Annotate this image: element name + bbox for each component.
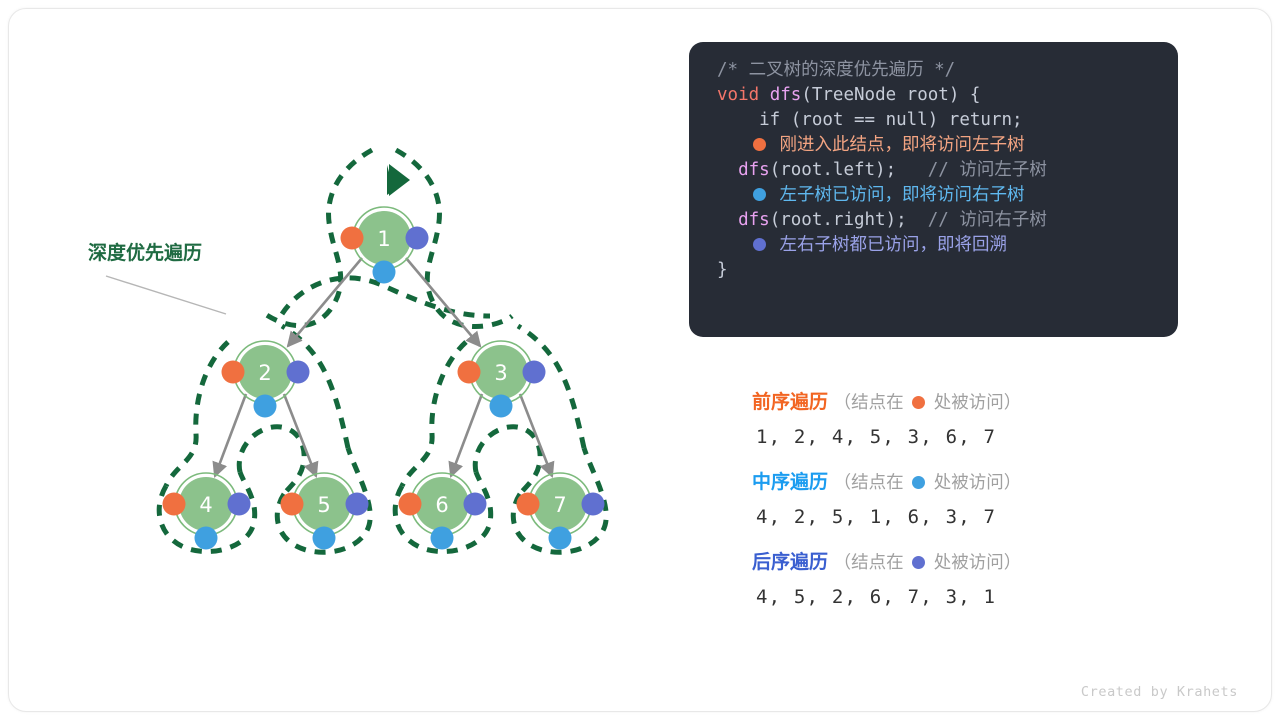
code-line-7: dfs(root.right); // 访问右子树 (689, 208, 1178, 233)
code-token: // 访问右子树 (907, 210, 1047, 230)
node-7-dot-inorder (549, 527, 572, 550)
node-7-dot-preorder (517, 493, 540, 516)
tree-node-2[interactable]: 2 (222, 341, 310, 418)
traversal-paren-prefix: （结点在 (828, 393, 909, 413)
traversal-paren-suffix: 处被访问） (928, 393, 1021, 413)
traversal-paren-suffix: 处被访问） (928, 553, 1021, 573)
code-token: /* (717, 60, 749, 80)
credit-text: Created by Krahets (1081, 684, 1238, 700)
node-1-dot-preorder (341, 227, 364, 250)
code-token (759, 85, 770, 105)
tree-diagram-panel: 1 2 3 (0, 24, 660, 644)
code-token: } (717, 260, 728, 280)
node-1-dot-postorder (406, 227, 429, 250)
node-6-dot-inorder (431, 527, 454, 550)
code-token: dfs (770, 85, 802, 105)
tree-node-3[interactable]: 3 (458, 341, 546, 418)
traversal-dot-icon (912, 476, 925, 489)
code-note-dot-icon (753, 238, 766, 251)
code-token: // 访问左子树 (896, 160, 1047, 180)
node-6-dot-preorder (399, 493, 422, 516)
node-3-dot-inorder (490, 395, 513, 418)
code-note-text: 左右子树都已访问，即将回溯 (769, 235, 1007, 255)
tree-node-4[interactable]: 4 (163, 473, 251, 550)
traversal-group-3: 后序遍历 （结点在 处被访问）4, 5, 2, 6, 7, 3, 1 (752, 546, 1172, 615)
code-token: 二叉树的深度优先遍历 (749, 60, 924, 80)
node-4-dot-preorder (163, 493, 186, 516)
code-block: /* 二叉树的深度优先遍历 */void dfs(TreeNode root) … (689, 42, 1178, 337)
code-token: dfs (738, 160, 770, 180)
node-6-value: 6 (435, 493, 448, 517)
traversal-name: 后序遍历 (752, 551, 828, 573)
node-1-value: 1 (377, 227, 390, 251)
code-line-9: } (689, 258, 1178, 283)
screenshot-root: 1 2 3 (0, 0, 1280, 720)
node-3-value: 3 (494, 361, 507, 385)
tree-node-6[interactable]: 6 (399, 473, 487, 550)
traversal-paren-prefix: （结点在 (828, 473, 909, 493)
dfs-path-mid-1 (282, 278, 490, 316)
code-token (717, 160, 738, 180)
edge-1-3 (406, 258, 480, 346)
code-line-5: dfs(root.left); // 访问左子树 (689, 158, 1178, 183)
dfs-path-4-to-5 (239, 427, 304, 494)
node-1-dot-inorder (373, 261, 396, 284)
node-3-dot-preorder (458, 361, 481, 384)
traversal-dot-icon (912, 396, 925, 409)
dfs-annotation: 深度优先遍历 (88, 241, 226, 314)
node-3-dot-postorder (523, 361, 546, 384)
traversal-sequence: 4, 2, 5, 1, 6, 3, 7 (752, 500, 1172, 535)
traversal-name: 前序遍历 (752, 391, 828, 413)
code-line-1: /* 二叉树的深度优先遍历 */ (689, 58, 1178, 83)
traversal-paren-prefix: （结点在 (828, 553, 909, 573)
traversal-heading: 前序遍历 （结点在 处被访问） (752, 386, 1172, 420)
code-line-3: if (root == null) return; (689, 108, 1178, 133)
code-line-2: void dfs(TreeNode root) { (689, 83, 1178, 108)
binary-tree-svg: 1 2 3 (0, 24, 660, 624)
code-token (717, 210, 738, 230)
code-line-6: 左子树已访问，即将访问右子树 (689, 183, 1178, 208)
dfs-annotation-label: 深度优先遍历 (88, 241, 202, 264)
dfs-annotation-leader-line (106, 276, 226, 314)
traversal-sequence: 4, 5, 2, 6, 7, 3, 1 (752, 580, 1172, 615)
node-5-value: 5 (317, 493, 330, 517)
code-note-text: 左子树已访问，即将访问右子树 (769, 185, 1025, 205)
node-2-value: 2 (258, 361, 271, 385)
node-5-dot-inorder (313, 527, 336, 550)
traversal-dot-icon (912, 556, 925, 569)
edge-1-2 (288, 258, 362, 346)
node-2-dot-preorder (222, 361, 245, 384)
code-token: */ (924, 60, 956, 80)
code-token: void (717, 85, 759, 105)
code-note-dot-icon (753, 188, 766, 201)
dfs-path-6-to-7 (475, 427, 540, 494)
node-7-value: 7 (553, 493, 566, 517)
node-4-value: 4 (199, 493, 212, 517)
traversal-sequence: 1, 2, 4, 5, 3, 6, 7 (752, 420, 1172, 455)
traversal-heading: 中序遍历 （结点在 处被访问） (752, 466, 1172, 500)
start-play-arrow-icon (387, 164, 410, 196)
code-line-4: 刚进入此结点，即将访问左子树 (689, 133, 1178, 158)
code-note-text: 刚进入此结点，即将访问左子树 (769, 135, 1025, 155)
node-7-dot-postorder (582, 493, 605, 516)
traversal-name: 中序遍历 (752, 471, 828, 493)
traversal-paren-suffix: 处被访问） (928, 473, 1021, 493)
code-token: dfs (738, 210, 770, 230)
traversal-group-2: 中序遍历 （结点在 处被访问）4, 2, 5, 1, 6, 3, 7 (752, 466, 1172, 535)
traversal-group-1: 前序遍历 （结点在 处被访问）1, 2, 4, 5, 3, 6, 7 (752, 386, 1172, 455)
node-5-dot-preorder (281, 493, 304, 516)
traversal-heading: 后序遍历 （结点在 处被访问） (752, 546, 1172, 580)
traversal-results-list: 前序遍历 （结点在 处被访问）1, 2, 4, 5, 3, 6, 7中序遍历 （… (752, 386, 1172, 626)
tree-node-1[interactable]: 1 (341, 207, 429, 284)
code-token: (TreeNode root) { (801, 85, 980, 105)
code-line-8: 左右子树都已访问，即将回溯 (689, 233, 1178, 258)
edge-2-5 (284, 394, 316, 476)
node-4-dot-postorder (228, 493, 251, 516)
node-2-dot-postorder (287, 361, 310, 384)
code-token: if (root == null) return; (717, 110, 1023, 130)
edge-3-7 (520, 394, 552, 476)
code-token: (root.left); (770, 160, 896, 180)
code-note-dot-icon (753, 138, 766, 151)
node-5-dot-postorder (346, 493, 369, 516)
node-6-dot-postorder (464, 493, 487, 516)
node-4-dot-inorder (195, 527, 218, 550)
code-token: (root.right); (770, 210, 907, 230)
node-2-dot-inorder (254, 395, 277, 418)
